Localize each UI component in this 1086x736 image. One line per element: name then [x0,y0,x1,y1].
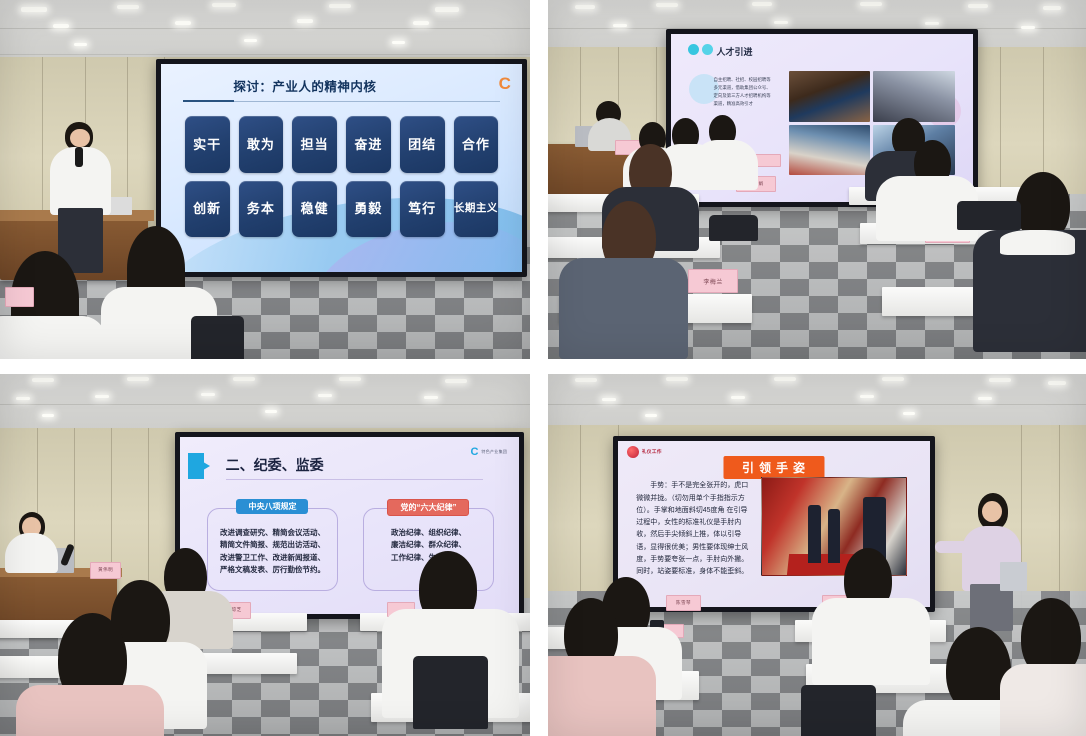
photo-vignette [548,374,1086,736]
photo-vignette [548,0,1086,359]
photo-bottom-left[interactable]: 二、纪委、监委 C 特色产业集团 中央八项规定 改进调查研究、精简会议活动、 精… [0,374,530,736]
photo-vignette [0,374,530,736]
photo-bottom-right[interactable]: 礼仪工作 引领手姿 手势：手不是完全张开的，虎口微微并拢。（切勿用单个手指指示方… [548,374,1086,736]
photo-collage: 探讨：产业人的精神内核 C 实干 敢为 担当 奋进 团结 合作 创新 务本 稳健… [0,0,1086,736]
photo-vignette [0,0,530,359]
photo-top-left[interactable]: 探讨：产业人的精神内核 C 实干 敢为 担当 奋进 团结 合作 创新 务本 稳健… [0,0,530,359]
collage-gutter-horizontal [0,359,1086,374]
photo-top-right[interactable]: 人才引进 自主招聘、社招、校园招聘等多元渠道，借助集团公众号、定向及第三方人才招… [548,0,1086,359]
